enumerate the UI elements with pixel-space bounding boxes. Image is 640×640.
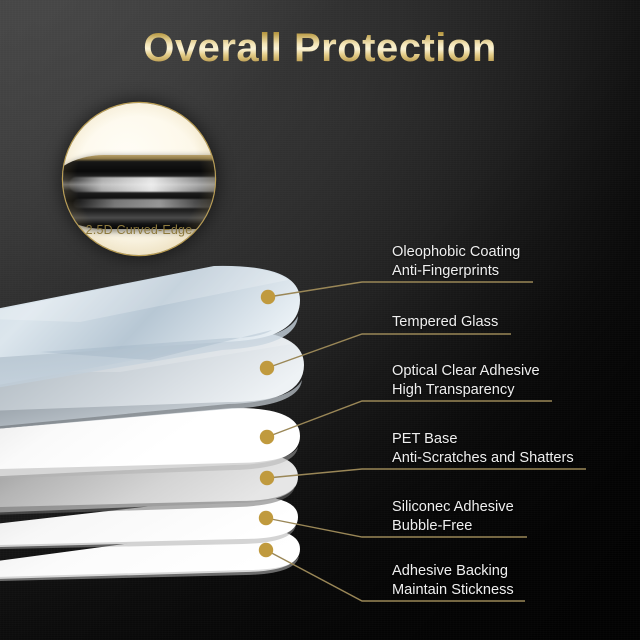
callout-line1: Tempered Glass [392,313,498,332]
callout-label-tempered-glass: Tempered Glass [392,313,498,332]
callout-labels: Oleophobic CoatingAnti-FingerprintsTempe… [0,0,640,640]
callout-label-pet-base: PET BaseAnti-Scratches and Shatters [392,430,574,468]
callout-label-siliconec-adhesive: Siliconec AdhesiveBubble-Free [392,498,514,536]
product-infographic: Overall Protection [0,0,640,640]
callout-line1: Oleophobic Coating [392,243,520,262]
callout-line2: Anti-Scratches and Shatters [392,449,574,468]
callout-line1: Optical Clear Adhesive [392,362,540,381]
callout-line2: High Transparency [392,381,540,400]
callout-line1: Siliconec Adhesive [392,498,514,517]
callout-line1: PET Base [392,430,574,449]
callout-label-oleophobic-coating: Oleophobic CoatingAnti-Fingerprints [392,243,520,281]
callout-line2: Anti-Fingerprints [392,262,520,281]
callout-label-adhesive-backing: Adhesive BackingMaintain Stickness [392,562,514,600]
callout-line2: Bubble-Free [392,517,514,536]
callout-label-optical-clear-adhesive: Optical Clear AdhesiveHigh Transparency [392,362,540,400]
callout-line2: Maintain Stickness [392,581,514,600]
callout-line1: Adhesive Backing [392,562,514,581]
